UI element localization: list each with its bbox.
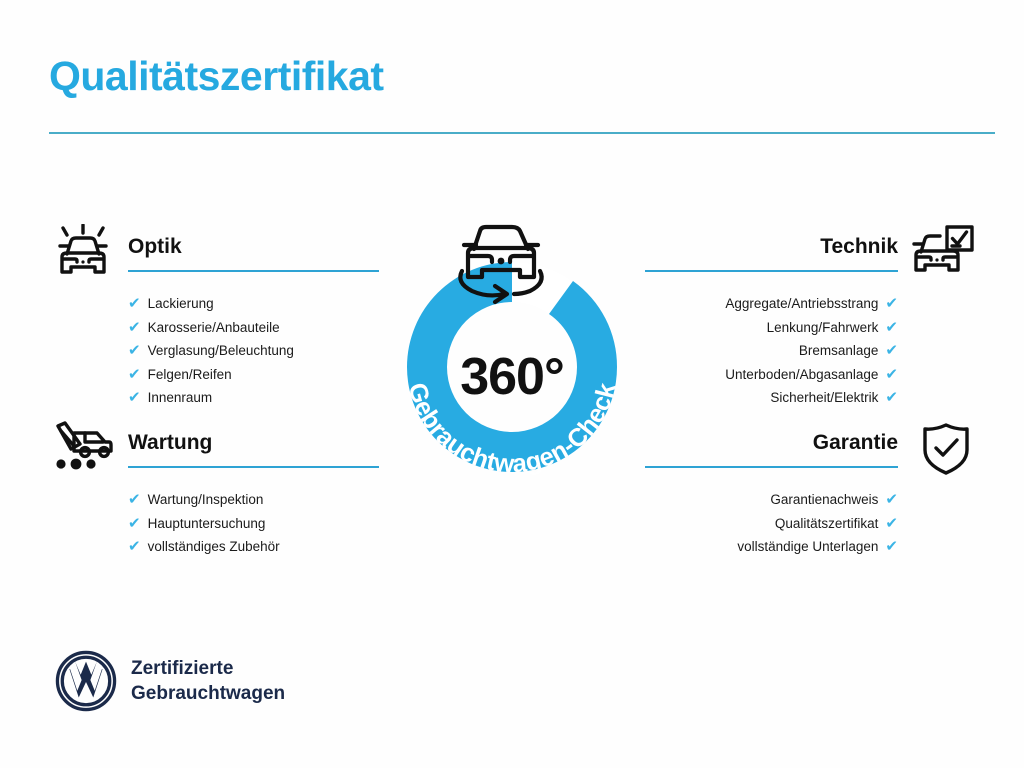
check-icon: ✔ <box>128 516 141 531</box>
list-item: ✔Hauptuntersuchung <box>128 512 379 536</box>
list-item: Bremsanlage✔ <box>645 339 898 363</box>
check-icon: ✔ <box>885 516 898 531</box>
certificate-page: Qualitätszertifikat Optik <box>0 0 1024 768</box>
check-icon: ✔ <box>885 320 898 335</box>
list-item-label: Qualitätszertifikat <box>775 512 879 536</box>
section-garantie-header: Garantie <box>645 428 975 474</box>
list-item-label: Innenraum <box>148 386 213 410</box>
section-wartung: Wartung ✔Wartung/Inspektion ✔Hauptunters… <box>49 428 379 559</box>
section-garantie-list: Garantienachweis✔ Qualitätszertifikat✔ v… <box>645 488 975 559</box>
check-icon: ✔ <box>128 390 141 405</box>
list-item-label: Wartung/Inspektion <box>148 488 264 512</box>
list-item: ✔Karosserie/Anbauteile <box>128 316 379 340</box>
list-item-label: Sicherheit/Elektrik <box>770 386 878 410</box>
section-garantie-underline <box>645 466 898 468</box>
list-item-label: Felgen/Reifen <box>148 363 232 387</box>
section-optik-list: ✔Lackierung ✔Karosserie/Anbauteile ✔Verg… <box>49 292 379 410</box>
list-item-label: Garantienachweis <box>770 488 878 512</box>
page-title: Qualitätszertifikat <box>49 54 384 99</box>
car-checkbox-icon <box>907 224 975 282</box>
footer-brand: Zertifizierte Gebrauchtwagen <box>55 650 285 712</box>
list-item-label: Lenkung/Fahrwerk <box>767 316 879 340</box>
check-icon: ✔ <box>128 296 141 311</box>
check-icon: ✔ <box>885 367 898 382</box>
list-item-label: Lackierung <box>148 292 214 316</box>
pen-car-service-icon <box>49 420 117 478</box>
list-item-label: Verglasung/Beleuchtung <box>148 339 294 363</box>
footer-line-2: Gebrauchtwagen <box>131 681 285 706</box>
check-icon: ✔ <box>885 296 898 311</box>
list-item: ✔Lackierung <box>128 292 379 316</box>
list-item: Unterboden/Abgasanlage✔ <box>645 363 898 387</box>
footer-line-1: Zertifizierte <box>131 656 285 681</box>
car-front-shine-icon <box>49 224 117 282</box>
shield-check-icon <box>917 420 975 478</box>
list-item: ✔vollständiges Zubehör <box>128 535 379 559</box>
section-wartung-list: ✔Wartung/Inspektion ✔Hauptuntersuchung ✔… <box>49 488 379 559</box>
list-item: Lenkung/Fahrwerk✔ <box>645 316 898 340</box>
check-icon: ✔ <box>885 390 898 405</box>
list-item: ✔Verglasung/Beleuchtung <box>128 339 379 363</box>
list-item: Aggregate/Antriebsstrang✔ <box>645 292 898 316</box>
list-item: Qualitätszertifikat✔ <box>645 512 898 536</box>
section-technik: Technik Aggregate/Antriebsstrang✔ Lenkun… <box>645 232 975 410</box>
check-icon: ✔ <box>885 343 898 358</box>
list-item-label: Aggregate/Antriebsstrang <box>725 292 878 316</box>
list-item-label: Bremsanlage <box>799 339 879 363</box>
check-icon: ✔ <box>128 492 141 507</box>
section-optik-underline <box>128 270 379 272</box>
list-item: ✔Wartung/Inspektion <box>128 488 379 512</box>
list-item-label: Unterboden/Abgasanlage <box>725 363 878 387</box>
check-icon: ✔ <box>885 492 898 507</box>
section-wartung-underline <box>128 466 379 468</box>
volkswagen-logo <box>55 650 117 712</box>
section-optik-header: Optik <box>49 232 379 278</box>
list-item: ✔Innenraum <box>128 386 379 410</box>
title-divider <box>49 132 995 134</box>
section-technik-underline <box>645 270 898 272</box>
check-icon: ✔ <box>128 539 141 554</box>
badge-center-label: 360° <box>381 347 643 407</box>
section-technik-list: Aggregate/Antriebsstrang✔ Lenkung/Fahrwe… <box>645 292 975 410</box>
check-icon: ✔ <box>128 343 141 358</box>
list-item: ✔Felgen/Reifen <box>128 363 379 387</box>
list-item-label: vollständige Unterlagen <box>737 535 878 559</box>
check-icon: ✔ <box>128 367 141 382</box>
section-garantie: Garantie Garantienachweis✔ Qualitätszert… <box>645 428 975 559</box>
list-item: Garantienachweis✔ <box>645 488 898 512</box>
check-icon: ✔ <box>128 320 141 335</box>
list-item: vollständige Unterlagen✔ <box>645 535 898 559</box>
section-wartung-header: Wartung <box>49 428 379 474</box>
list-item-label: Hauptuntersuchung <box>148 512 266 536</box>
footer-brand-text: Zertifizierte Gebrauchtwagen <box>131 656 285 706</box>
section-technik-header: Technik <box>645 232 975 278</box>
badge-360-gebrauchtwagen-check: Gebrauchtwagen-Check 360° <box>381 207 643 499</box>
section-optik: Optik ✔Lackierung ✔Karosserie/Anbauteile… <box>49 232 379 410</box>
list-item-label: vollständiges Zubehör <box>148 535 280 559</box>
list-item-label: Karosserie/Anbauteile <box>148 316 280 340</box>
check-icon: ✔ <box>885 539 898 554</box>
list-item: Sicherheit/Elektrik✔ <box>645 386 898 410</box>
